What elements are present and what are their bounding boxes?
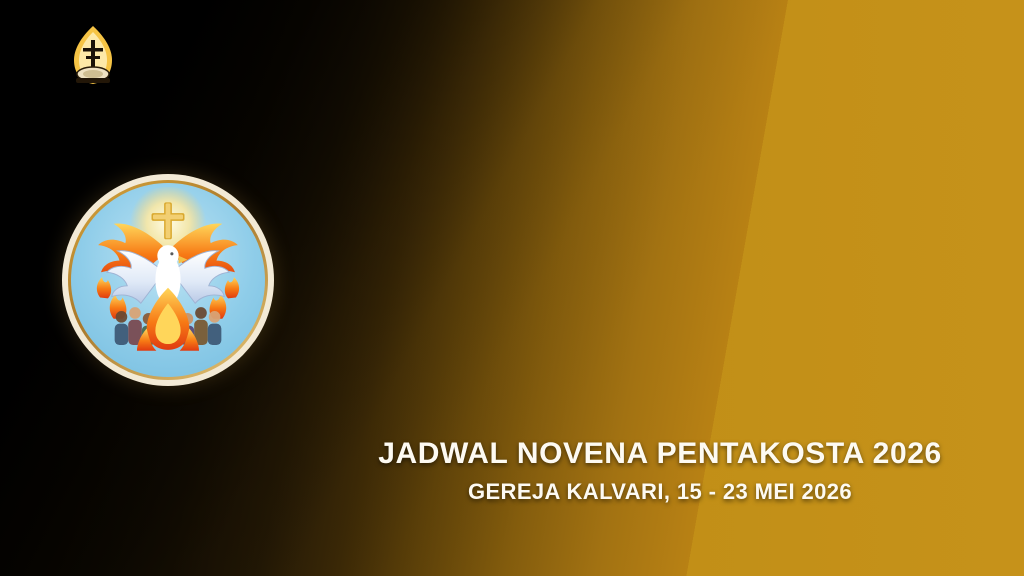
page-title: JADWAL NOVENA PENTAKOSTA 2026	[340, 437, 980, 471]
pentecost-dove-flame-emblem-icon	[62, 174, 274, 386]
poster-canvas: NOVENA PENTAKOSTA 2026 GEREJA KALVARI BC…	[0, 0, 1024, 576]
header: JADWAL NOVENA PENTAKOSTA 2026 GEREJA KAL…	[340, 437, 980, 505]
flame-cross-crest-icon	[58, 22, 128, 90]
page-subtitle: GEREJA KALVARI, 15 - 23 MEI 2026	[340, 479, 980, 505]
